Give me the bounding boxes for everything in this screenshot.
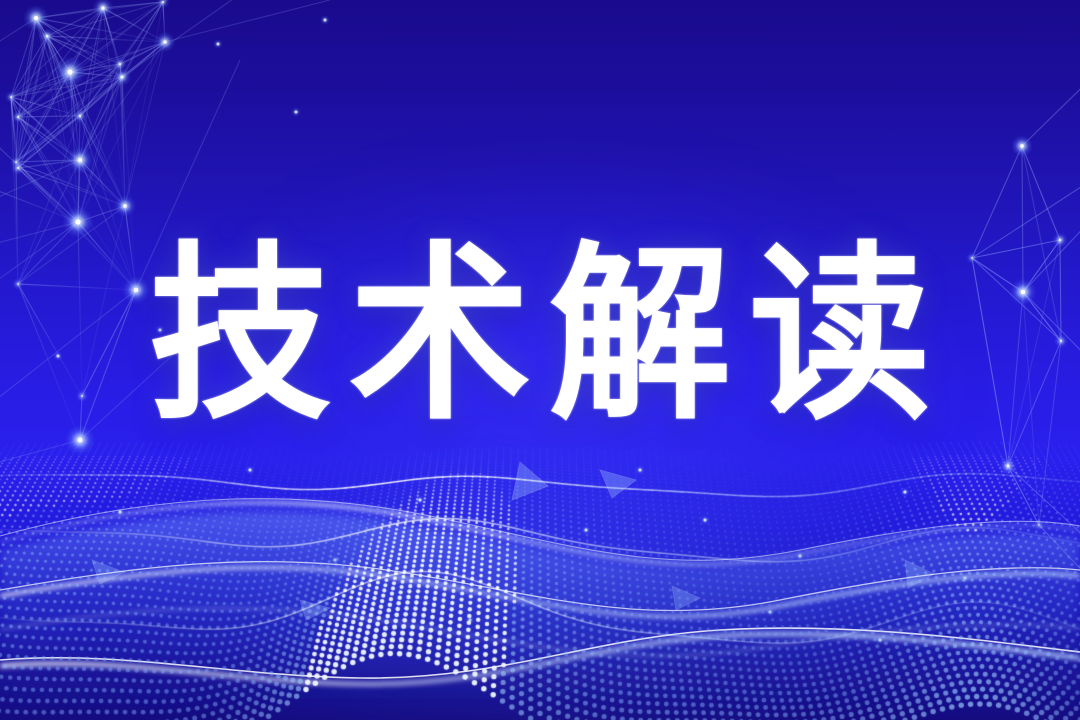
page-title: 技术解读 bbox=[0, 244, 1080, 426]
page-title-text: 技术解读 bbox=[131, 240, 949, 429]
network-mesh-icon bbox=[0, 0, 1080, 720]
floating-polygons-icon bbox=[92, 462, 934, 620]
horizon-glow bbox=[120, 430, 1000, 720]
poster-canvas: 技术解读 bbox=[0, 0, 1080, 720]
center-glow bbox=[180, 170, 940, 590]
light-wave-icon bbox=[0, 430, 1080, 720]
particle-grid-icon bbox=[0, 390, 1080, 720]
